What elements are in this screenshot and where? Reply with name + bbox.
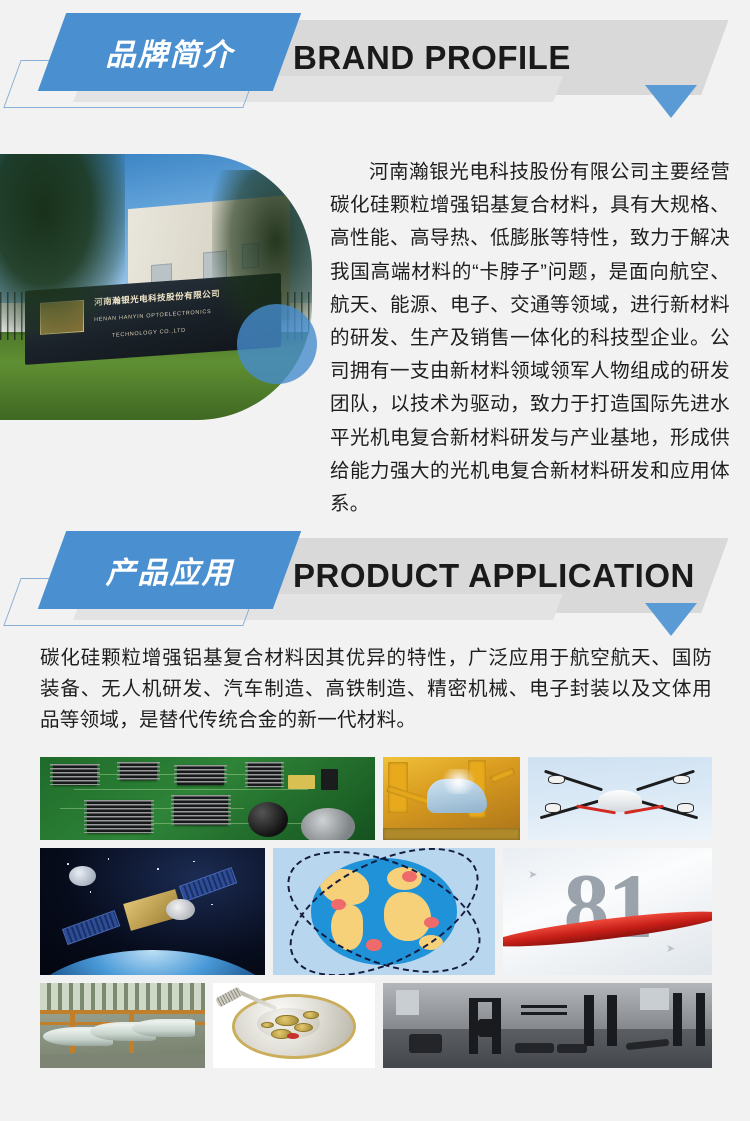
gallery-image-precision-watch-movement[interactable]: [213, 983, 375, 1068]
decorative-blue-circle: [237, 304, 317, 384]
brand-profile-en-title: BRAND PROFILE: [293, 25, 571, 90]
brand-profile-body: 河南瀚银光电科技股份有限公司 HENAN HANYIN OPTOELECTRON…: [0, 118, 750, 518]
gallery-image-drone-research[interactable]: [528, 757, 712, 840]
globe-marker: [366, 939, 382, 950]
satellite-earth: [40, 950, 265, 975]
photo-tree-left: [0, 154, 125, 335]
gallery-row: [40, 757, 712, 840]
watch-movement-plate: [232, 994, 355, 1059]
product-application-en-title: PRODUCT APPLICATION: [293, 543, 695, 608]
gallery-image-automotive-manufacturing[interactable]: [383, 757, 520, 840]
product-application-paragraph: 碳化硅颗粒增强铝基复合材料因其优异的特性，广泛应用于航空航天、国防装备、无人机研…: [40, 643, 712, 736]
watch-crown: [215, 986, 243, 1007]
product-application-banner: 产品应用 PRODUCT APPLICATION: [0, 518, 750, 638]
gallery-image-aerospace-satellite[interactable]: [40, 848, 265, 975]
satellite-moon-icon: [69, 866, 96, 886]
triangle-down-icon: [645, 85, 697, 118]
gallery-row: [40, 983, 712, 1068]
defense-anniversary-number: 81: [564, 853, 652, 959]
gallery-image-global-network-globe[interactable]: [273, 848, 495, 975]
gallery-image-high-speed-rail[interactable]: [40, 983, 205, 1068]
product-application-cn-title: 产品应用: [52, 531, 287, 609]
brand-profile-banner: 品牌简介 BRAND PROFILE: [0, 0, 750, 120]
product-detail-page: 品牌简介 BRAND PROFILE 河南瀚银光电科技股份有限公司 HENAN …: [0, 0, 750, 1121]
application-gallery: ➤ ➤ 81: [40, 757, 712, 1076]
gallery-row: ➤ ➤ 81: [40, 848, 712, 975]
triangle-down-icon: [645, 603, 697, 636]
gallery-image-electronic-packaging-pcb[interactable]: [40, 757, 375, 840]
brand-profile-paragraph: 河南瀚银光电科技股份有限公司主要经营碳化硅颗粒增强铝基复合材料，具有大规格、高性…: [330, 156, 730, 521]
brand-profile-cn-title: 品牌简介: [52, 13, 287, 91]
gallery-image-sports-fitness-equipment[interactable]: [383, 983, 712, 1068]
gallery-image-national-defense-81[interactable]: ➤ ➤ 81: [503, 848, 712, 975]
